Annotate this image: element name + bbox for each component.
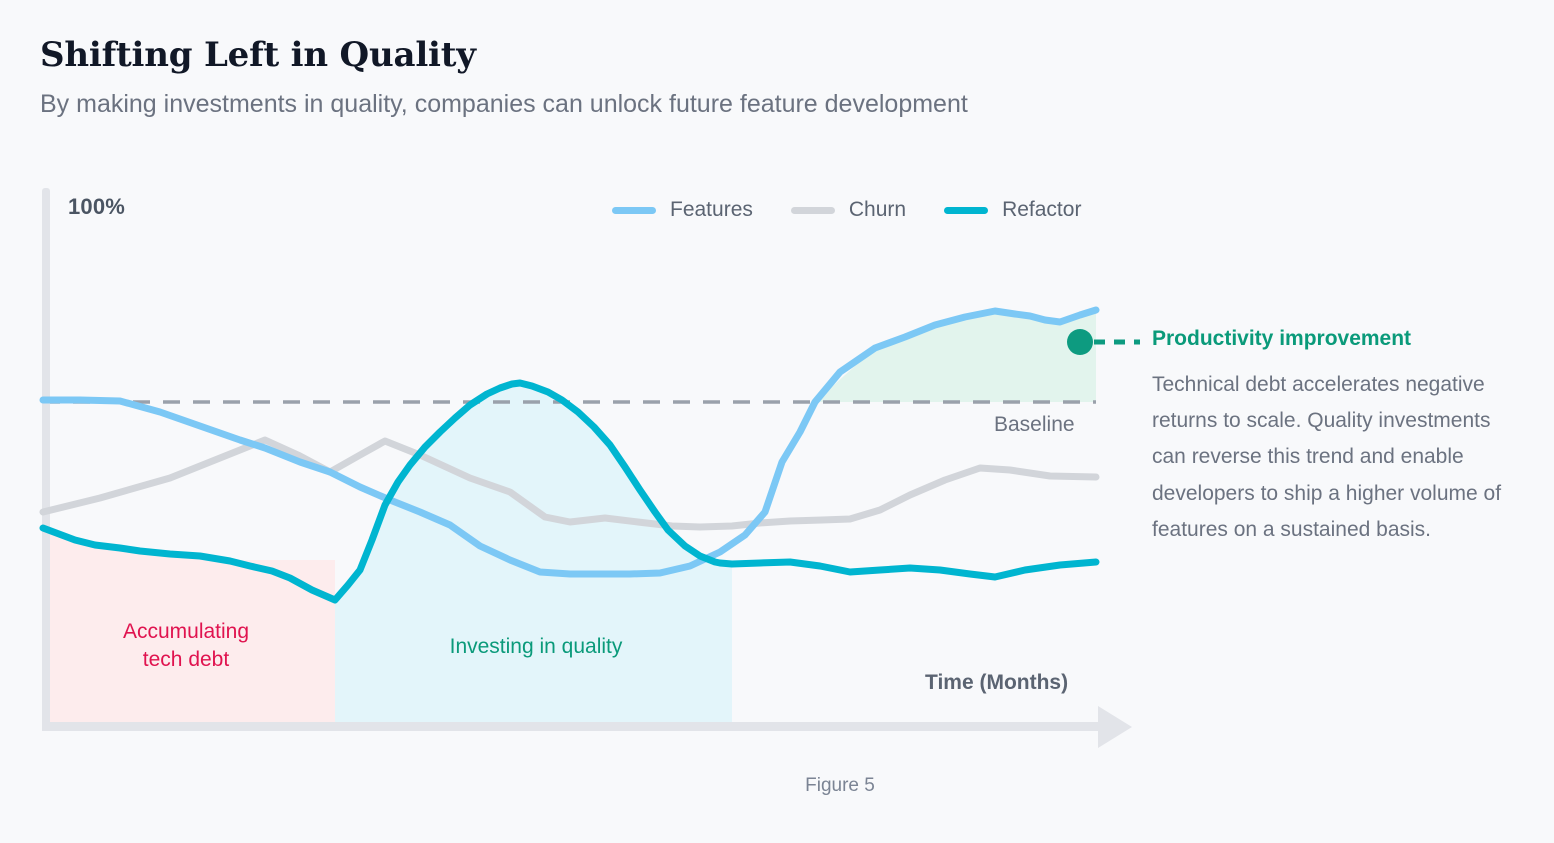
page-title: Shifting Left in Quality (40, 36, 1340, 75)
line-swatch-icon (791, 207, 835, 214)
region-productivity-gain (815, 310, 1096, 402)
header: Shifting Left in Quality By making inves… (40, 36, 1340, 119)
legend-item-churn[interactable]: Churn (791, 198, 906, 222)
region-label-line1: Accumulating (88, 618, 284, 646)
series-line-churn (43, 440, 1096, 527)
line-swatch-icon (944, 207, 988, 214)
page-subtitle: By making investments in quality, compan… (40, 89, 1340, 119)
line-swatch-icon (612, 207, 656, 214)
annotation-block: Productivity improvement Technical debt … (1152, 326, 1512, 548)
y-axis (42, 188, 50, 728)
series-line-features (43, 310, 1096, 574)
x-axis-arrow-icon (1098, 706, 1132, 748)
productivity-marker-dot (1067, 329, 1093, 355)
x-axis (42, 722, 1102, 731)
legend-item-label: Churn (849, 198, 906, 222)
legend-item-refactor[interactable]: Refactor (944, 198, 1081, 222)
region-investing-top (335, 383, 732, 725)
legend-item-features[interactable]: Features (612, 198, 753, 222)
series-line-refactor (43, 383, 1096, 600)
baseline-label: Baseline (994, 413, 1075, 437)
legend-item-label: Refactor (1002, 198, 1081, 222)
figure-caption: Figure 5 (0, 775, 1554, 797)
annotation-body: Technical debt accelerates negative retu… (1152, 367, 1512, 548)
region-label-tech-debt: Accumulating tech debt (88, 618, 284, 675)
annotation-title: Productivity improvement (1152, 326, 1512, 351)
y-axis-max-label: 100% (68, 194, 125, 220)
region-investing (335, 600, 732, 725)
x-axis-label: Time (Months) (925, 671, 1068, 695)
legend-item-label: Features (670, 198, 753, 222)
region-label-investing: Investing in quality (400, 633, 672, 661)
legend: Features Churn Refactor (612, 198, 1081, 222)
region-label-line2: tech debt (88, 646, 284, 674)
chart-page: Shifting Left in Quality By making inves… (0, 0, 1554, 843)
